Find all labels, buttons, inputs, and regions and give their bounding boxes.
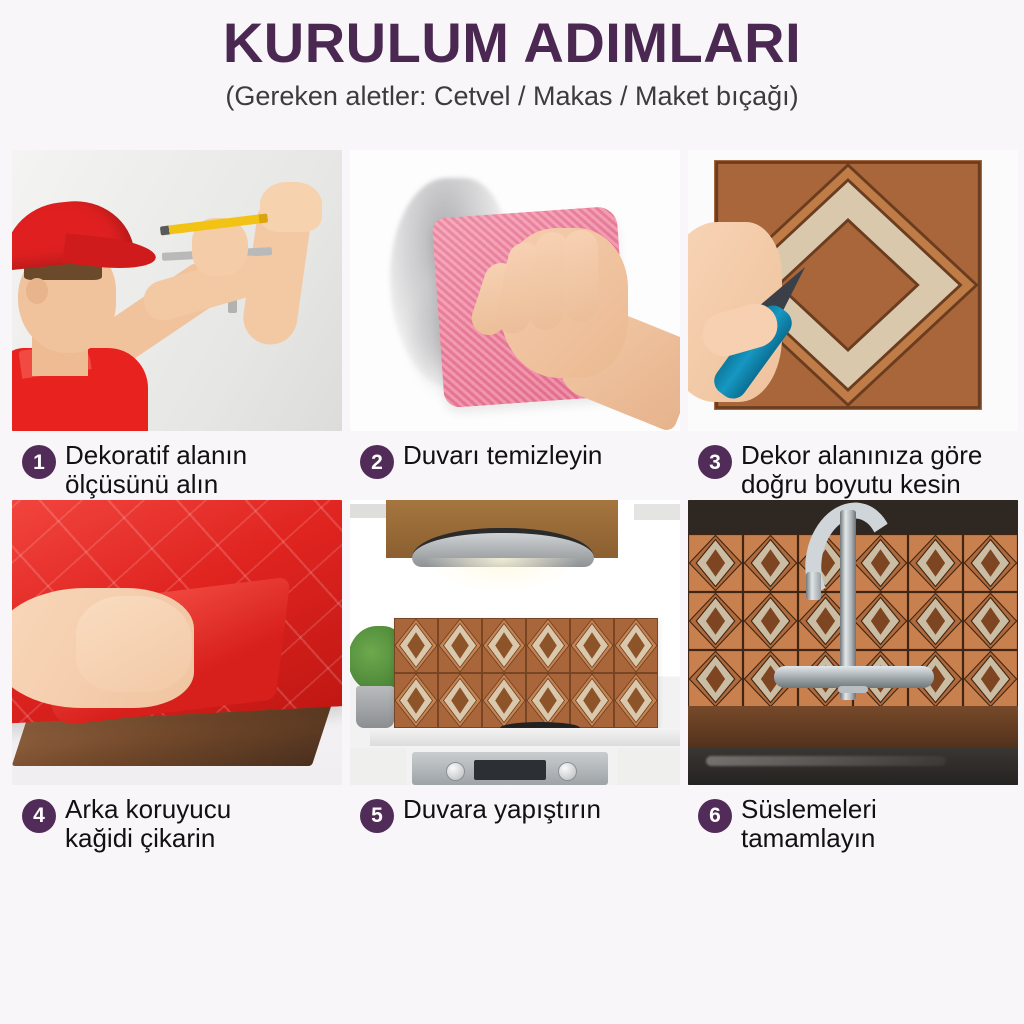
photo-apply-backsplash [350, 500, 680, 785]
step-label-5: Duvara yapıştırın [403, 795, 601, 824]
step-caption-1: 1 Dekoratif alanın ölçüsünü alın [12, 431, 342, 500]
step-caption-3: 3 Dekor alanınıza göre doğru boyutu kesi… [688, 431, 1018, 500]
tile-backsplash [394, 618, 658, 728]
step-caption-6: 6 Süslemeleri tamamlayın [688, 785, 1018, 854]
plant-pot [356, 686, 394, 728]
lower-cabinet-left [350, 748, 406, 785]
step-label-1: Dekoratif alanın ölçüsünü alın [65, 441, 247, 500]
wood-countertop [688, 706, 1018, 752]
step-card-3: 3 Dekor alanınıza göre doğru boyutu kesi… [688, 150, 1018, 500]
step-label-6: Süslemeleri tamamlayın [741, 795, 877, 854]
header: KURULUM ADIMLARI (Gereken aletler: Cetve… [0, 0, 1024, 112]
installation-steps-infographic: KURULUM ADIMLARI (Gereken aletler: Cetve… [0, 0, 1024, 1024]
photo-clean-wall [350, 150, 680, 431]
step-caption-2: 2 Duvarı temizleyin [350, 431, 680, 479]
step-card-2: 2 Duvarı temizleyin [350, 150, 680, 500]
finger [564, 230, 598, 322]
ear [26, 278, 48, 304]
step-caption-5: 5 Duvara yapıştırın [350, 785, 680, 833]
step-label-2: Duvarı temizleyin [403, 441, 602, 470]
oven-knob [558, 762, 577, 781]
steps-grid: 1 Dekoratif alanın ölçüsünü alın 2 Duvar… [12, 150, 1012, 854]
step-badge-3: 3 [698, 445, 732, 479]
faucet-spout [806, 572, 821, 600]
step-card-6: 6 Süslemeleri tamamlayın [688, 500, 1018, 854]
lower-cabinet-right [618, 748, 680, 785]
tile-pattern-icon [394, 618, 658, 728]
photo-measure-wall [12, 150, 342, 431]
step-label-3: Dekor alanınıza göre doğru boyutu kesin [741, 441, 982, 500]
oven-knob [446, 762, 465, 781]
step-caption-4: 4 Arka koruyucu kağidi çikarin [12, 785, 342, 854]
sink-highlight [706, 756, 946, 766]
steadying-hand [260, 182, 322, 232]
faucet-lever [838, 686, 868, 693]
step-label-4: Arka koruyucu kağidi çikarin [65, 795, 231, 854]
step-badge-2: 2 [360, 445, 394, 479]
shelf-right [634, 504, 680, 520]
photo-peel-backing [12, 500, 342, 785]
countertop [370, 728, 680, 746]
page-title: KURULUM ADIMLARI [0, 14, 1024, 73]
photo-finished-sink [688, 500, 1018, 785]
faucet-mixer-body [774, 666, 934, 688]
step-badge-6: 6 [698, 799, 732, 833]
shelf-left [350, 504, 390, 518]
photo-cut-tile [688, 150, 1018, 431]
page-subtitle: (Gereken aletler: Cetvel / Makas / Maket… [0, 81, 1024, 112]
hood-light-glow [426, 558, 578, 592]
step-badge-1: 1 [22, 445, 56, 479]
step-card-4: 4 Arka koruyucu kağidi çikarin [12, 500, 342, 854]
step-badge-5: 5 [360, 799, 394, 833]
knuckles [76, 596, 192, 692]
step-card-5: 5 Duvara yapıştırın [350, 500, 680, 854]
step-badge-4: 4 [22, 799, 56, 833]
oven-display [474, 760, 546, 780]
sink-basin [688, 748, 1018, 785]
step-card-1: 1 Dekoratif alanın ölçüsünü alın [12, 150, 342, 500]
